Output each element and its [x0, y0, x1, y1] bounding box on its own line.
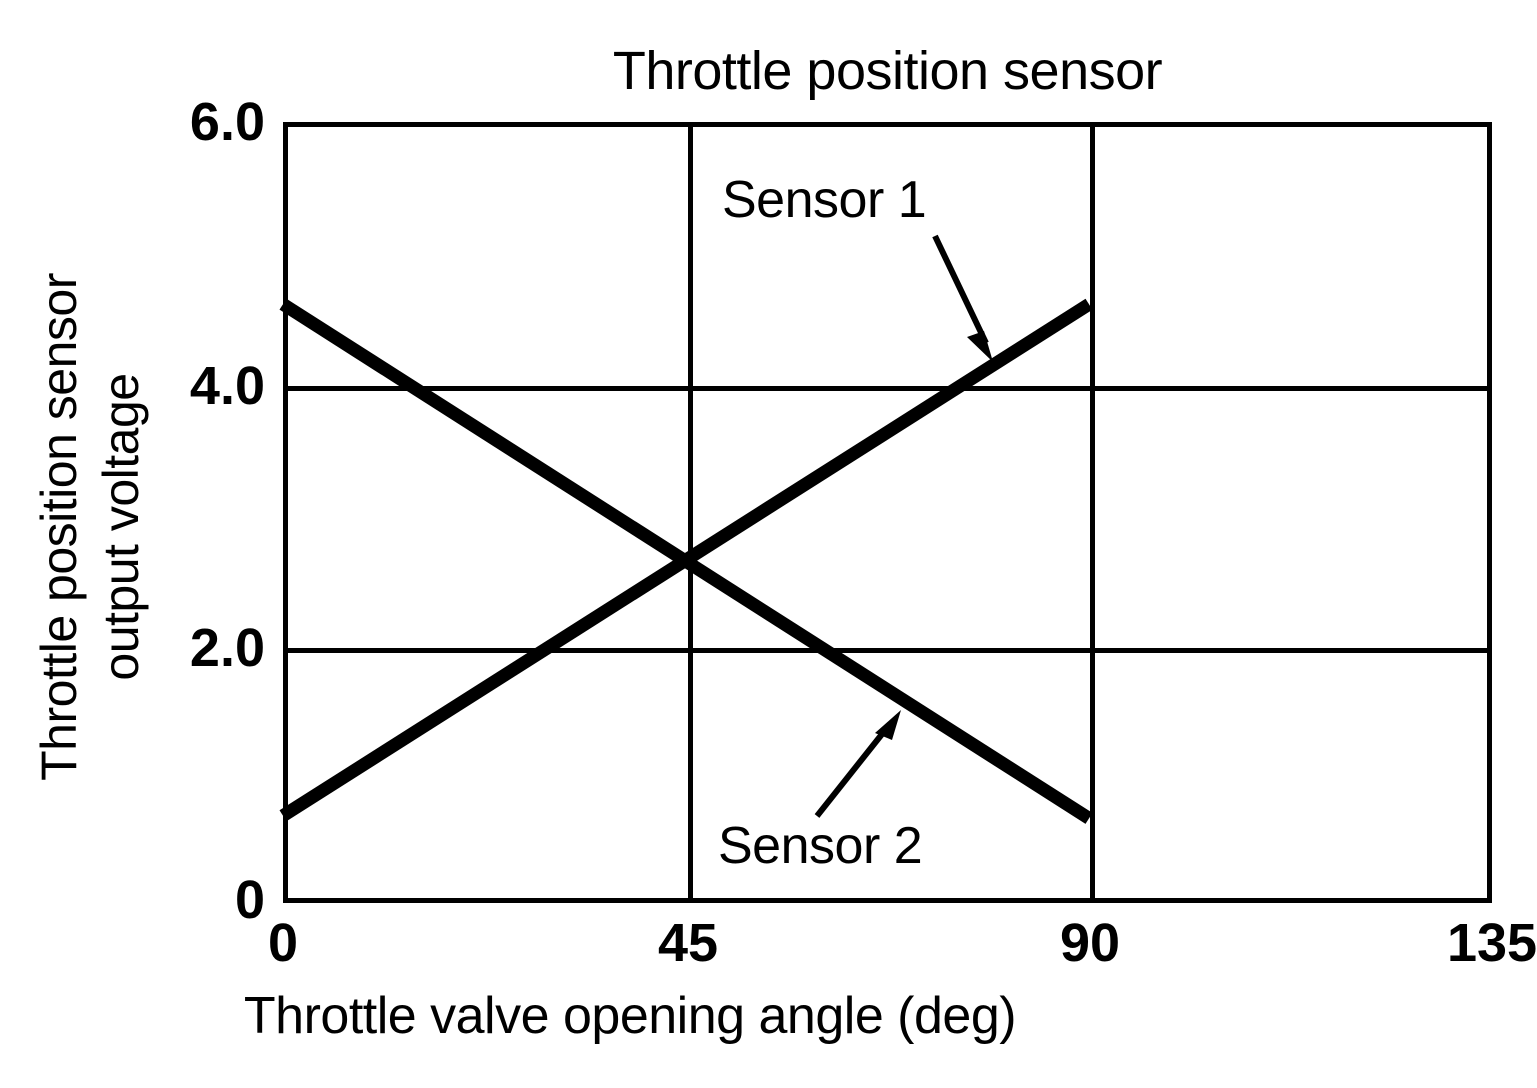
chart-figure: Throttle position sensor 6.0 4.0 2.0 0 0…: [0, 0, 1537, 1088]
chart-title: Throttle position sensor: [283, 40, 1492, 102]
x-tick-label-90: 90: [990, 913, 1190, 973]
y-axis-label-line-2: output voltage: [90, 132, 152, 922]
plot-inner: [288, 127, 1487, 898]
gridline-x-45: [688, 127, 693, 898]
y-axis-label: Throttle position sensor output voltage: [28, 132, 152, 922]
x-tick-label-135: 135: [1392, 913, 1537, 973]
plot-area: [283, 122, 1492, 903]
x-tick-label-0: 0: [183, 913, 383, 973]
x-axis-label: Throttle valve opening angle (deg): [60, 985, 1200, 1047]
gridline-x-90: [1090, 127, 1095, 898]
gridline-y-2: [288, 648, 1487, 653]
gridline-y-4: [288, 386, 1487, 391]
annotation-sensor-2: Sensor 2: [718, 818, 922, 874]
annotation-sensor-1: Sensor 1: [722, 172, 926, 228]
y-axis-label-line-1: Throttle position sensor: [28, 132, 90, 922]
x-tick-label-45: 45: [588, 913, 788, 973]
